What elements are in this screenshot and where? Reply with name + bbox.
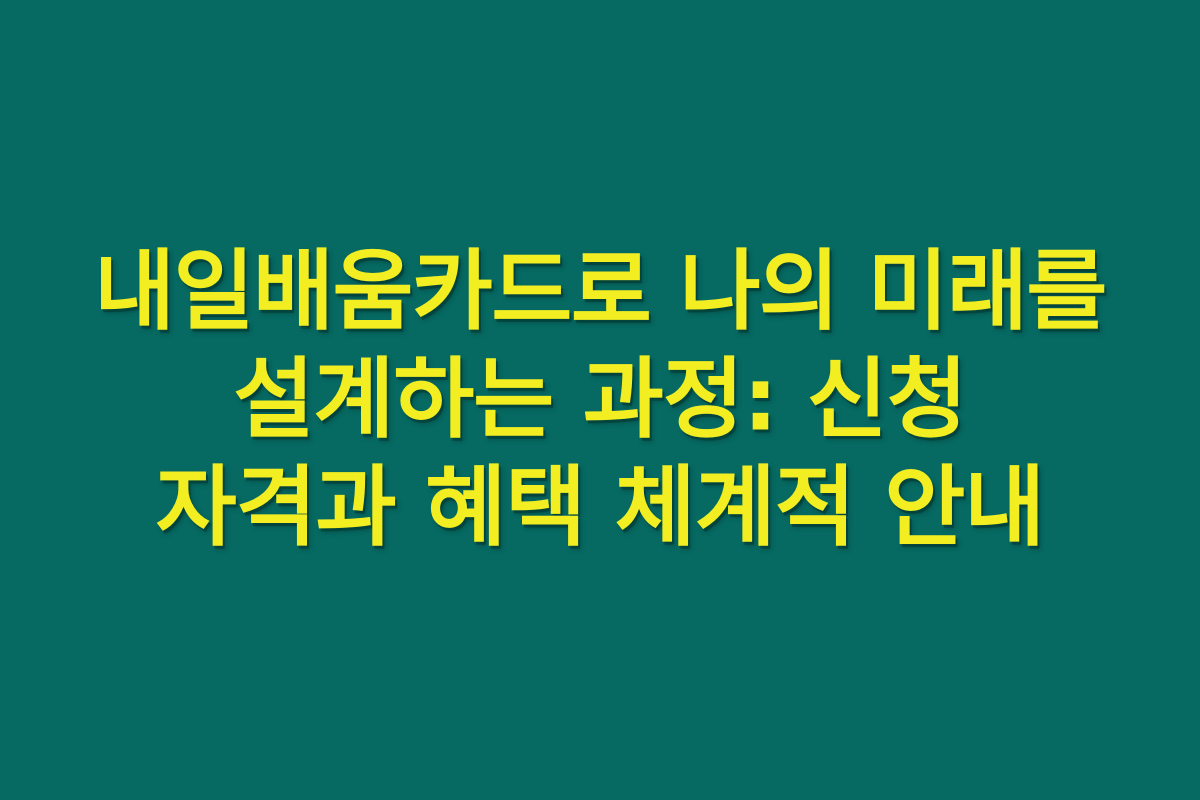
headline-block: 내일배움카드로 나의 미래를 설계하는 과정: 신청 자격과 혜택 체계적 안내 (30, 238, 1170, 562)
headline-line-1: 내일배움카드로 나의 미래를 (30, 238, 1170, 346)
headline-line-2: 설계하는 과정: 신청 (30, 346, 1170, 454)
title-card: 내일배움카드로 나의 미래를 설계하는 과정: 신청 자격과 혜택 체계적 안내 (0, 0, 1200, 800)
headline-line-3: 자격과 혜택 체계적 안내 (30, 454, 1170, 562)
